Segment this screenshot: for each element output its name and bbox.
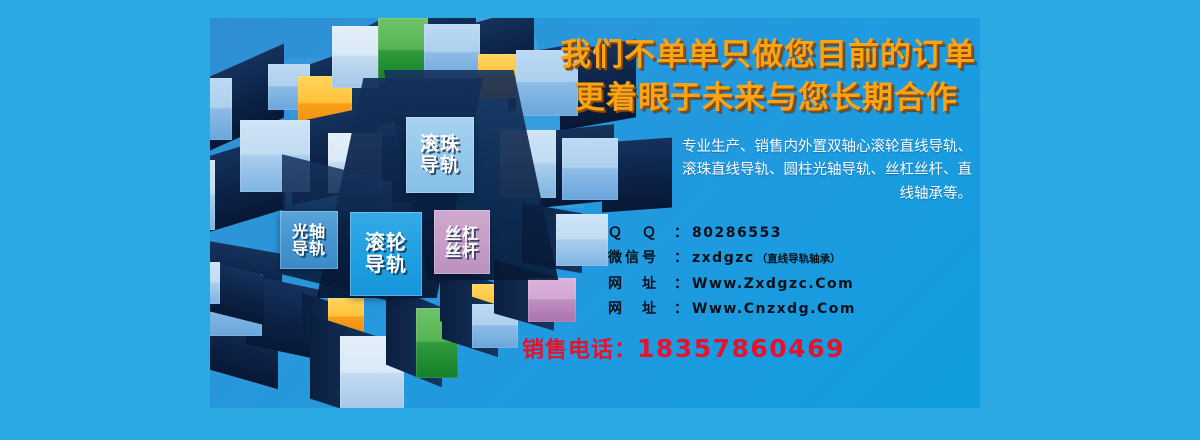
contact-separator: ： (674, 222, 688, 242)
chip-line-2: 导轨 (365, 254, 407, 276)
contact-row-qq: Ｑ Ｑ ： 80286553 (608, 222, 972, 242)
chip-line-2: 导轨 (292, 240, 326, 257)
contact-separator: ： (674, 298, 688, 318)
sales-phone[interactable]: 销售电话：18357860469 (522, 332, 972, 364)
contact-label: Ｑ Ｑ (608, 222, 674, 242)
product-chip-sigang-sigan[interactable]: 丝杠 丝杆 (434, 210, 490, 274)
sales-phone-number[interactable]: 18357860469 (637, 334, 845, 363)
banner-panel: 滚珠 导轨 滚轮 导轨 光轴 导轨 丝杠 丝杆 我们不单单只做您目前的订单 更着… (210, 18, 980, 408)
contact-separator: ： (674, 247, 688, 267)
chip-line-1: 光轴 (292, 223, 326, 240)
description-line-3: 线轴承等。 (586, 183, 972, 206)
contact-label: 微信号 (608, 247, 674, 267)
headline: 我们不单单只做您目前的订单 更着眼于未来与您长期合作 (560, 34, 972, 120)
chip-line-2: 导轨 (420, 155, 460, 176)
sales-phone-label: 销售电话： (522, 338, 637, 363)
contact-row-website-1: 网 址 ： Www.Zxdgzc.Com (608, 273, 972, 293)
contact-label: 网 址 (608, 273, 674, 293)
product-chip-guangzhou-daogui[interactable]: 光轴 导轨 (280, 211, 338, 269)
cube (210, 262, 220, 304)
contact-label: 网 址 (608, 298, 674, 318)
description-line-1: 专业生产、销售内外置双轴心滚轮直线导轨、 (586, 136, 972, 159)
product-chip-gunlun-daogui[interactable]: 滚轮 导轨 (350, 212, 422, 296)
contact-value[interactable]: Www.Cnzxdg.Com (692, 301, 856, 317)
description: 专业生产、销售内外置双轴心滚轮直线导轨、 滚珠直线导轨、圆柱光轴导轨、丝杠丝杆、… (560, 136, 972, 206)
contact-value[interactable]: Www.Zxdgzc.Com (692, 276, 854, 292)
cube (210, 78, 232, 140)
banner-stage: 滚珠 导轨 滚轮 导轨 光轴 导轨 丝杠 丝杆 我们不单单只做您目前的订单 更着… (0, 0, 1200, 440)
chip-line-1: 滚珠 (420, 134, 460, 155)
description-line-2: 滚珠直线导轨、圆柱光轴导轨、丝杠丝杆、直 (586, 159, 972, 182)
headline-line-2: 更着眼于未来与您长期合作 (574, 77, 972, 120)
contact-value[interactable]: 80286553 (692, 225, 782, 241)
headline-line-1: 我们不单单只做您目前的订单 (560, 34, 972, 77)
contact-row-website-2: 网 址 ： Www.Cnzxdg.Com (608, 298, 972, 318)
chip-line-1: 丝杠 (445, 225, 479, 242)
chip-line-1: 滚轮 (365, 232, 407, 254)
chip-line-2: 丝杆 (445, 242, 479, 259)
contact-value[interactable]: zxdgzc (692, 250, 755, 266)
product-chip-gunzhu-daogui[interactable]: 滚珠 导轨 (406, 117, 474, 193)
contact-list: Ｑ Ｑ ： 80286553 微信号 ： zxdgzc （直线导轨轴承） 网 址… (608, 222, 972, 319)
contact-note: （直线导轨轴承） (757, 251, 841, 266)
contact-row-wechat: 微信号 ： zxdgzc （直线导轨轴承） (608, 247, 972, 267)
contact-separator: ： (674, 273, 688, 293)
banner-copy: 我们不单单只做您目前的订单 更着眼于未来与您长期合作 专业生产、销售内外置双轴心… (560, 34, 972, 364)
cube (210, 160, 215, 230)
